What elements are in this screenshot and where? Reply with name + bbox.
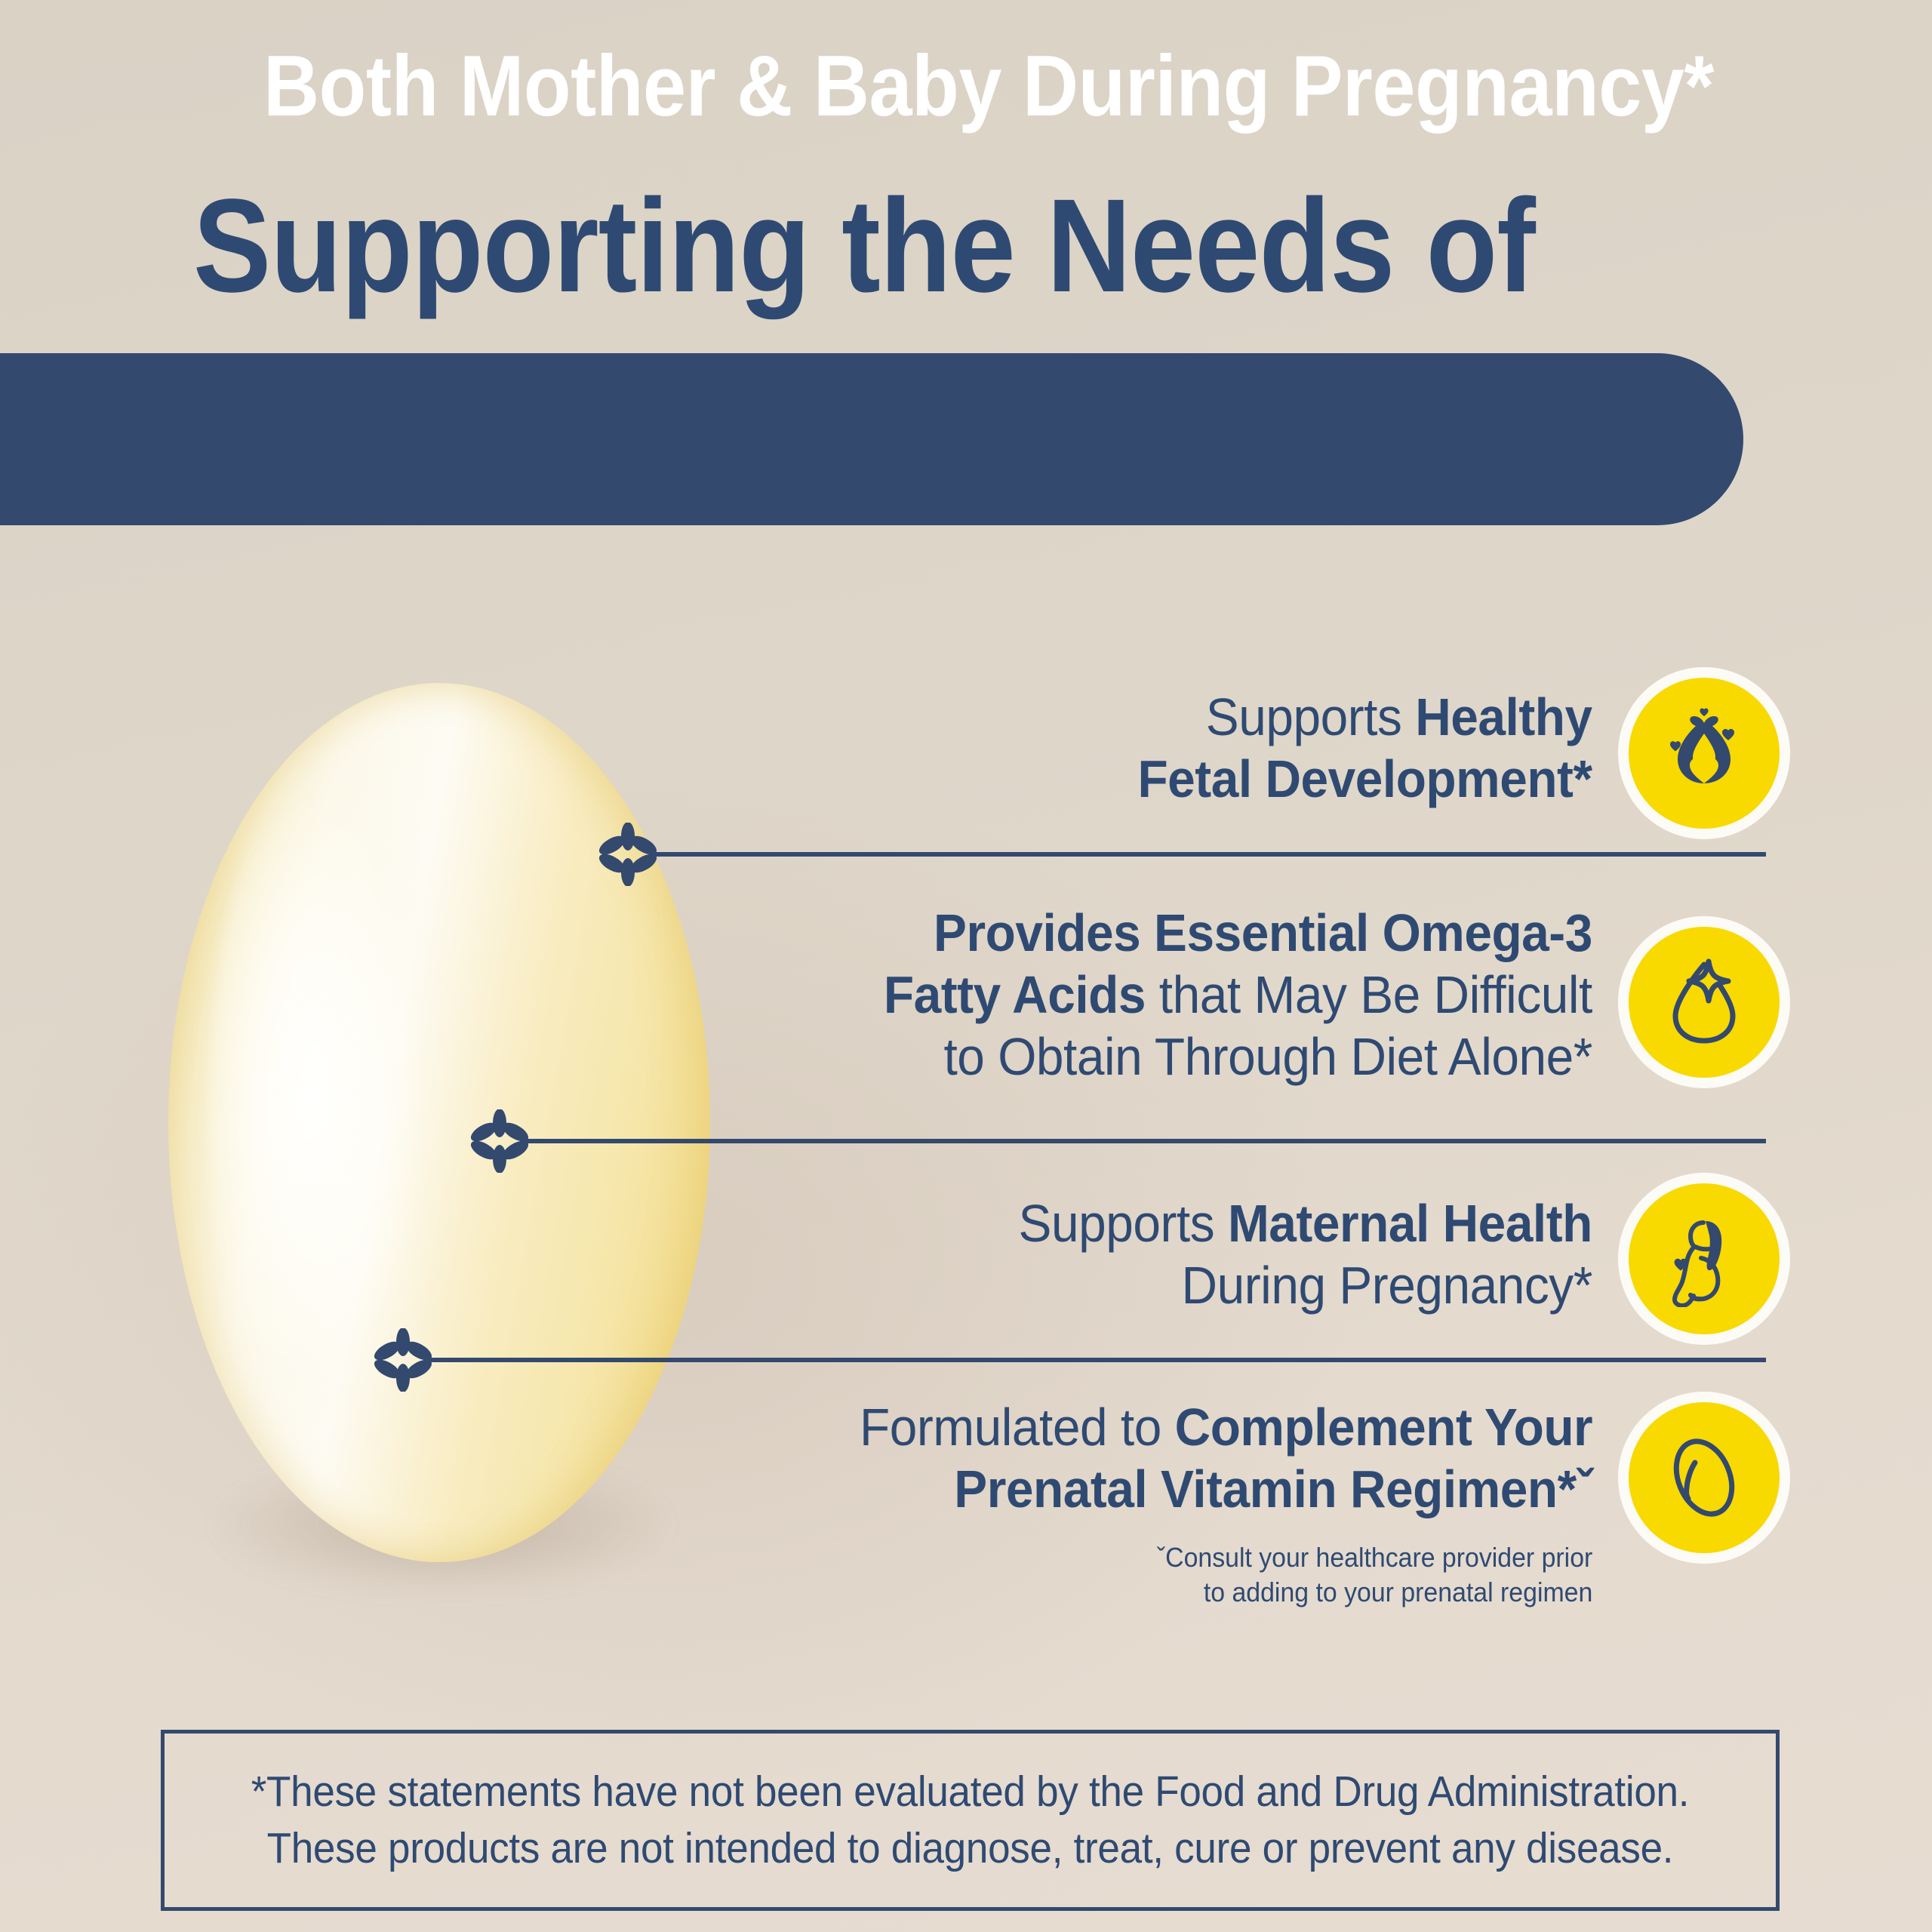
disclaimer-text: *These statements have not been evaluate…	[251, 1764, 1689, 1877]
header-banner-text: Both Mother & Baby During Pregnancy*	[140, 0, 1838, 172]
benefit-1-line2-bold: Fetal Development*	[1138, 749, 1592, 808]
icon-badge-fetal-development	[1629, 678, 1780, 829]
icon-badge-maternal-health	[1629, 1183, 1780, 1334]
infographic-canvas: Supporting the Needs of Both Mother & Ba…	[0, 0, 1932, 1932]
benefit-4-footnote: ˇConsult your healthcare provider prior …	[1157, 1540, 1592, 1610]
benefit-2-line1-bold: Provides Essential Omega-3	[934, 903, 1592, 962]
benefit-2-line3-normal: to Obtain Through Diet Alone*	[944, 1027, 1592, 1086]
connector-line-2	[521, 1139, 1766, 1143]
benefit-3-line1-normal: Supports	[1019, 1194, 1228, 1253]
softgel-capsule-image	[155, 683, 728, 1604]
benefit-1-text: Supports Healthy Fetal Development*	[1138, 687, 1592, 811]
fetus-droplet-heart-icon	[1656, 705, 1752, 801]
benefit-prenatal-complement: Formulated to Complement Your Prenatal V…	[792, 1392, 1592, 1619]
connector-line-3	[424, 1358, 1766, 1362]
benefit-4-line2-bold: Prenatal Vitamin Regimen*ˇ	[954, 1460, 1592, 1518]
benefit-2-line2-bold: Fatty Acids	[884, 965, 1146, 1024]
benefit-2-text: Provides Essential Omega-3 Fatty Acids t…	[884, 903, 1592, 1088]
benefit-4-footnote-line1: ˇConsult your healthcare provider prior	[1157, 1542, 1592, 1573]
disclaimer-box: *These statements have not been evaluate…	[161, 1730, 1780, 1911]
benefit-3-line1-bold: Maternal Health	[1228, 1194, 1592, 1253]
icon-badge-omega-3	[1629, 927, 1780, 1078]
benefit-4-footnote-line2: to adding to your prenatal regimen	[1204, 1577, 1592, 1607]
benefit-4-line1-bold: Complement Your	[1174, 1398, 1592, 1457]
disclaimer-line2: These products are not intended to diagn…	[267, 1824, 1674, 1872]
benefit-maternal-health: Supports Maternal Health During Pregnanc…	[853, 1189, 1592, 1332]
icon-badge-prenatal-complement	[1629, 1402, 1780, 1553]
benefit-4-text: Formulated to Complement Your Prenatal V…	[860, 1397, 1592, 1521]
benefit-2-line2-normal: that May Be Difficult	[1146, 965, 1592, 1024]
benefit-omega-3: Provides Essential Omega-3 Fatty Acids t…	[724, 898, 1592, 1109]
header-banner	[0, 353, 1743, 525]
disclaimer-line1: *These statements have not been evaluate…	[251, 1767, 1689, 1816]
page-title: Supporting the Needs of	[103, 180, 1624, 312]
benefit-fetal-development: Supports Healthy Fetal Development*	[1019, 679, 1592, 823]
benefit-1-line1-bold: Healthy	[1416, 688, 1592, 746]
connector-line-1	[651, 852, 1766, 857]
softgel-capsule-icon	[1656, 1429, 1752, 1526]
benefit-3-line2-normal: During Pregnancy*	[1182, 1256, 1592, 1315]
benefit-3-text: Supports Maternal Health During Pregnanc…	[1019, 1193, 1592, 1317]
oil-droplet-sparkle-icon	[1656, 954, 1752, 1051]
benefit-1-line1-normal: Supports	[1206, 688, 1415, 746]
benefit-4-line1-normal: Formulated to	[860, 1398, 1175, 1457]
pregnant-woman-heart-icon	[1656, 1211, 1752, 1307]
